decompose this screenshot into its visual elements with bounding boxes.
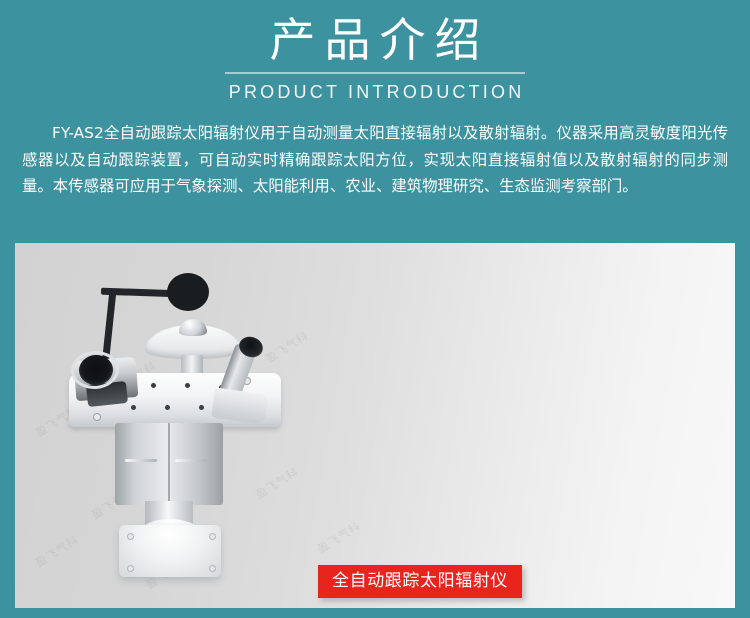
product-introduction-page: 产品介绍 PRODUCT INTRODUCTION FY-AS2全自动跟踪太阳辐… (0, 0, 750, 618)
drive-housing-seam (168, 423, 170, 505)
page-title: 产品介绍 (0, 12, 750, 68)
plate-bolt (131, 405, 136, 410)
plate-bolt (185, 383, 190, 388)
housing-slot (175, 459, 207, 462)
plate-bolt (165, 405, 170, 410)
plate-bolt (151, 383, 156, 388)
product-name-banner: 全自动跟踪太阳辐射仪 (318, 565, 522, 598)
base-mount-hole (209, 565, 216, 572)
product-description: FY-AS2全自动跟踪太阳辐射仪用于自动测量太阳直接辐射以及散射辐射。仪器采用高… (22, 120, 728, 200)
page-subtitle: PRODUCT INTRODUCTION (0, 79, 750, 105)
plate-bolt (199, 405, 204, 410)
pyranometer-dome-glass (179, 319, 207, 336)
header-section: 产品介绍 PRODUCT INTRODUCTION FY-AS2全自动跟踪太阳辐… (0, 0, 750, 243)
product-image-panel: 盈飞气科 盈飞气科 盈飞气科 盈飞气科 盈飞气科 盈飞气科 盈飞气科 盈飞气科 … (15, 243, 735, 608)
base-mount-hole (127, 565, 134, 572)
product-photo (57, 263, 317, 583)
base-mount-hole (209, 533, 216, 540)
plate-screw (93, 413, 101, 421)
watermark-text: 盈飞气科 (314, 517, 363, 556)
housing-slot (125, 459, 157, 462)
base-mount-hole (127, 533, 134, 540)
title-divider (225, 72, 525, 74)
base-plate (119, 525, 221, 577)
shade-disk-icon (167, 273, 209, 311)
